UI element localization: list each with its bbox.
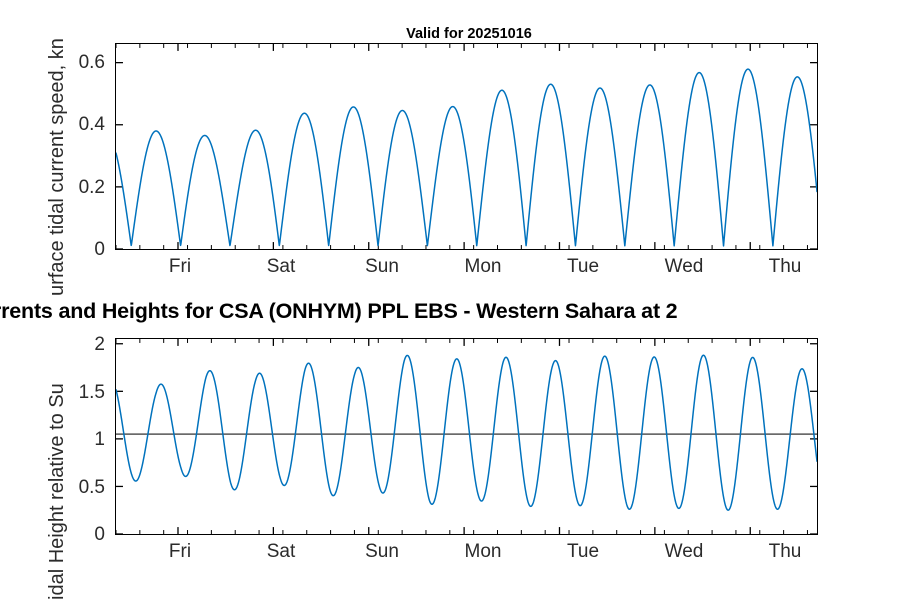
- figure-main-title: urrents and Heights for CSA (ONHYM) PPL …: [0, 299, 677, 324]
- top-xtick-thu: Thu: [769, 256, 802, 278]
- bottom-xtick-fri: Fri: [169, 541, 191, 563]
- top-xtick-fri: Fri: [169, 256, 191, 278]
- bottom-ytick-2: 2: [60, 334, 105, 356]
- top-ytick-0.2: 0.2: [60, 177, 105, 199]
- bottom-ytick-0.5: 0.5: [60, 477, 105, 499]
- bottom-ytick-0: 0: [60, 524, 105, 546]
- top-xtick-tue: Tue: [567, 256, 599, 278]
- bottom-xtick-sat: Sat: [267, 541, 296, 563]
- top-xtick-sun: Sun: [365, 256, 399, 278]
- top-xtick-sat: Sat: [267, 256, 296, 278]
- top-xtick-mon: Mon: [465, 256, 502, 278]
- bottom-plot-area: [115, 338, 818, 535]
- bottom-xtick-mon: Mon: [465, 541, 502, 563]
- bottom-ytick-1.5: 1.5: [60, 382, 105, 404]
- bottom-ytick-1: 1: [60, 429, 105, 451]
- top-ytick-0.4: 0.4: [60, 114, 105, 136]
- bottom-xtick-sun: Sun: [365, 541, 399, 563]
- figure-root: Valid for 20251016 urface tidal current …: [0, 0, 900, 600]
- top-ytick-0: 0: [60, 239, 105, 261]
- bottom-chart-svg: [116, 339, 817, 534]
- bottom-xtick-thu: Thu: [769, 541, 802, 563]
- top-chart-svg: [116, 44, 817, 249]
- top-panel-subtitle: Valid for 20251016: [406, 26, 532, 42]
- top-plot-area: [115, 43, 818, 250]
- top-ytick-0.6: 0.6: [60, 52, 105, 74]
- bottom-xtick-wed: Wed: [665, 541, 704, 563]
- bottom-xtick-tue: Tue: [567, 541, 599, 563]
- top-xtick-wed: Wed: [665, 256, 704, 278]
